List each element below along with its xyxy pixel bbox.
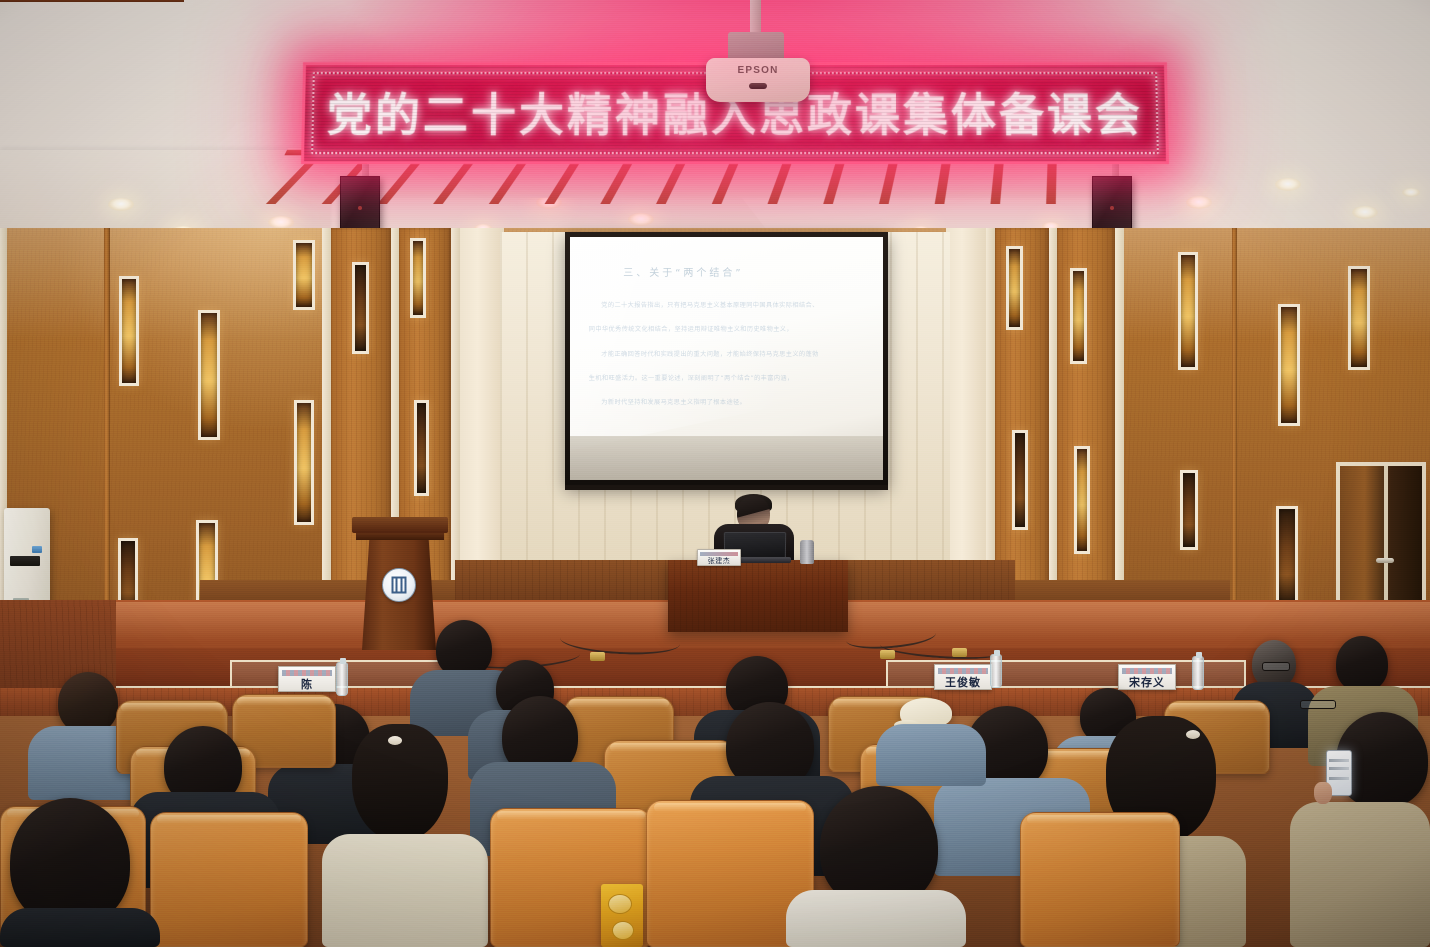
downlight (628, 213, 654, 226)
ac-vent (10, 556, 40, 566)
floor-cable-box (952, 648, 967, 657)
seat-highlight (610, 743, 730, 752)
screen-lower-band (570, 436, 883, 480)
attendee-body (0, 908, 160, 947)
water-bottle (990, 654, 1002, 688)
phone-screen-content (1329, 759, 1349, 762)
seat-highlight (654, 803, 807, 812)
wall-niche (119, 276, 139, 386)
podium (362, 538, 436, 650)
wall-niche (1278, 304, 1300, 426)
wall-niche (198, 310, 220, 440)
projection-screen: 三、关于“两个结合” 党的二十大报告指出，只有把马克思主义基本原理同中国具体实际… (570, 237, 883, 480)
attendee-body (1290, 802, 1430, 947)
nameplate-stage: 张建杰 (697, 549, 741, 566)
snack-graphic (608, 894, 632, 914)
podium-top (352, 517, 448, 533)
attendee-body (876, 724, 986, 786)
water-bottle (336, 662, 348, 696)
wall-niche (1348, 266, 1370, 370)
downlight (1402, 188, 1420, 197)
floor-cable-box (880, 650, 895, 659)
wall-niche (1070, 268, 1087, 364)
nameplate-label: 宋存义 (1119, 674, 1175, 690)
wall-niche (352, 262, 369, 354)
projection-screen-frame: 三、关于“两个结合” 党的二十大报告指出，只有把马克思主义基本原理同中国具体实际… (565, 232, 888, 485)
nameplate-front-3: 宋存义 (1118, 664, 1176, 690)
projector-mount-stem (750, 0, 761, 34)
screen-bottom-bar (565, 485, 888, 490)
nameplate-label: 陈 (279, 676, 335, 692)
downlight (1275, 178, 1301, 191)
slide-line: 党的二十大报告指出，只有把马克思主义基本原理同中国具体实际相结合、 (601, 300, 818, 309)
seat-highlight (1169, 703, 1265, 712)
seat-highlight (497, 811, 644, 820)
eyeglasses (1300, 700, 1336, 709)
seat-highlight (1027, 815, 1172, 824)
attendee-head (1336, 636, 1388, 692)
attendee-body (322, 834, 488, 947)
wall-niche (1006, 246, 1023, 330)
water-bottle (1192, 656, 1204, 690)
auditorium-seat[interactable] (150, 812, 308, 947)
slide-line: 为新时代坚持和发展马克思主义指明了根本途径。 (601, 397, 746, 406)
ac-display-badge (32, 546, 42, 553)
wall-niche (410, 238, 426, 318)
head-table (668, 560, 848, 632)
nameplate-front-2: 王俊敏 (934, 664, 992, 690)
wall-column (1232, 228, 1237, 658)
nameplate-label: 王俊敏 (935, 674, 991, 690)
wall-niche (1180, 470, 1198, 550)
phone-screen-content (1329, 767, 1349, 770)
slide-line: 才能正确回答时代和实践提出的重大问题，才能始终保持马克思主义的蓬勃 (601, 349, 818, 358)
hair-tie (388, 736, 402, 745)
hair-tie (1186, 730, 1200, 739)
conference-hall-photo: 党的二十大精神融入思政课集体备课会 EPSON (0, 0, 1430, 947)
wall-niche (293, 240, 315, 310)
attendee-head (10, 798, 130, 926)
nameplate-stage-label: 张建杰 (698, 556, 740, 566)
auditorium-seat[interactable] (1020, 812, 1180, 947)
snack-graphic (612, 921, 634, 940)
phone-screen-content (1329, 777, 1349, 780)
snack-package (601, 884, 643, 947)
projector-lens (749, 83, 767, 89)
door-handle[interactable] (1376, 558, 1394, 563)
attendee-head (58, 672, 118, 734)
seat-highlight (121, 703, 222, 712)
eyeglasses (1262, 662, 1290, 671)
downlight (1186, 196, 1212, 209)
seat-highlight (569, 699, 668, 708)
seat-highlight (157, 815, 301, 824)
hand (1314, 782, 1332, 804)
wall-niche (1178, 252, 1198, 370)
wall-column (104, 228, 110, 658)
slide-heading: 三、关于“两个结合” (623, 264, 743, 279)
projector-epson: EPSON (706, 58, 810, 102)
wall-niche (1276, 506, 1298, 606)
downlight (1352, 206, 1378, 219)
wall-niche (294, 400, 314, 525)
wall-niche (1074, 446, 1090, 554)
slide-line: 同中华优秀传统文化相结合，坚持运用辩证唯物主义和历史唯物主义， (589, 324, 793, 333)
university-crest-icon (382, 568, 416, 602)
head-table-top (0, 0, 184, 2)
wall-niche (1012, 430, 1028, 530)
thermos (800, 540, 814, 564)
floor-cable-box (590, 652, 605, 661)
attendee-body (786, 890, 966, 947)
nameplate-front-1: 陈 (278, 666, 336, 692)
projector-brand-label: EPSON (706, 65, 810, 76)
downlight (108, 198, 134, 211)
seat-highlight (237, 697, 331, 706)
slide-line: 生机和旺盛活力。这一重要论述，深刻阐明了“两个结合”的丰富内涵， (589, 373, 794, 382)
wall-niche (414, 400, 429, 496)
